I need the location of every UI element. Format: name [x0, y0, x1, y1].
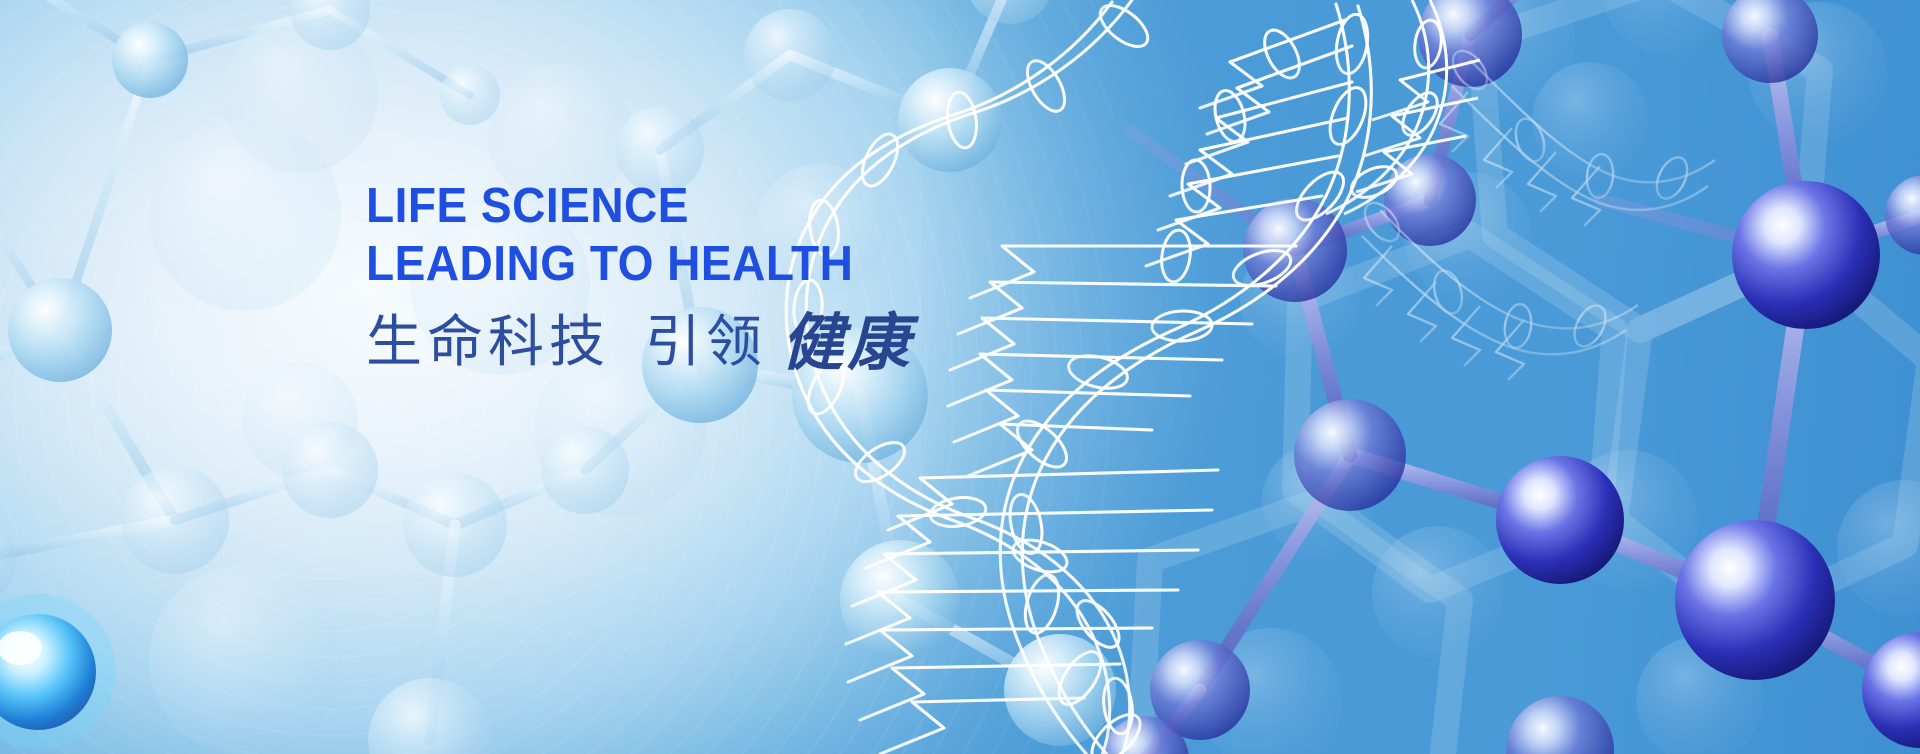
subheadline-part-2: 引领	[645, 310, 767, 375]
subheadline-part-3: 健康	[781, 306, 913, 379]
dna-double-helix-wireframe	[0, 0, 1920, 754]
life-science-banner: LIFE SCIENCE LEADING TO HEALTH 生命科技 引领 健…	[0, 0, 1920, 754]
subheadline-part-1: 生命科技	[366, 310, 610, 375]
banner-text-block: LIFE SCIENCE LEADING TO HEALTH 生命科技 引领 健…	[366, 178, 1126, 374]
headline-line-1: LIFE SCIENCE	[366, 178, 1080, 236]
subheadline: 生命科技 引领 健康	[366, 312, 1126, 374]
page-title: LIFE SCIENCE LEADING TO HEALTH	[366, 178, 1080, 294]
headline-line-2: LEADING TO HEALTH	[366, 236, 1080, 294]
